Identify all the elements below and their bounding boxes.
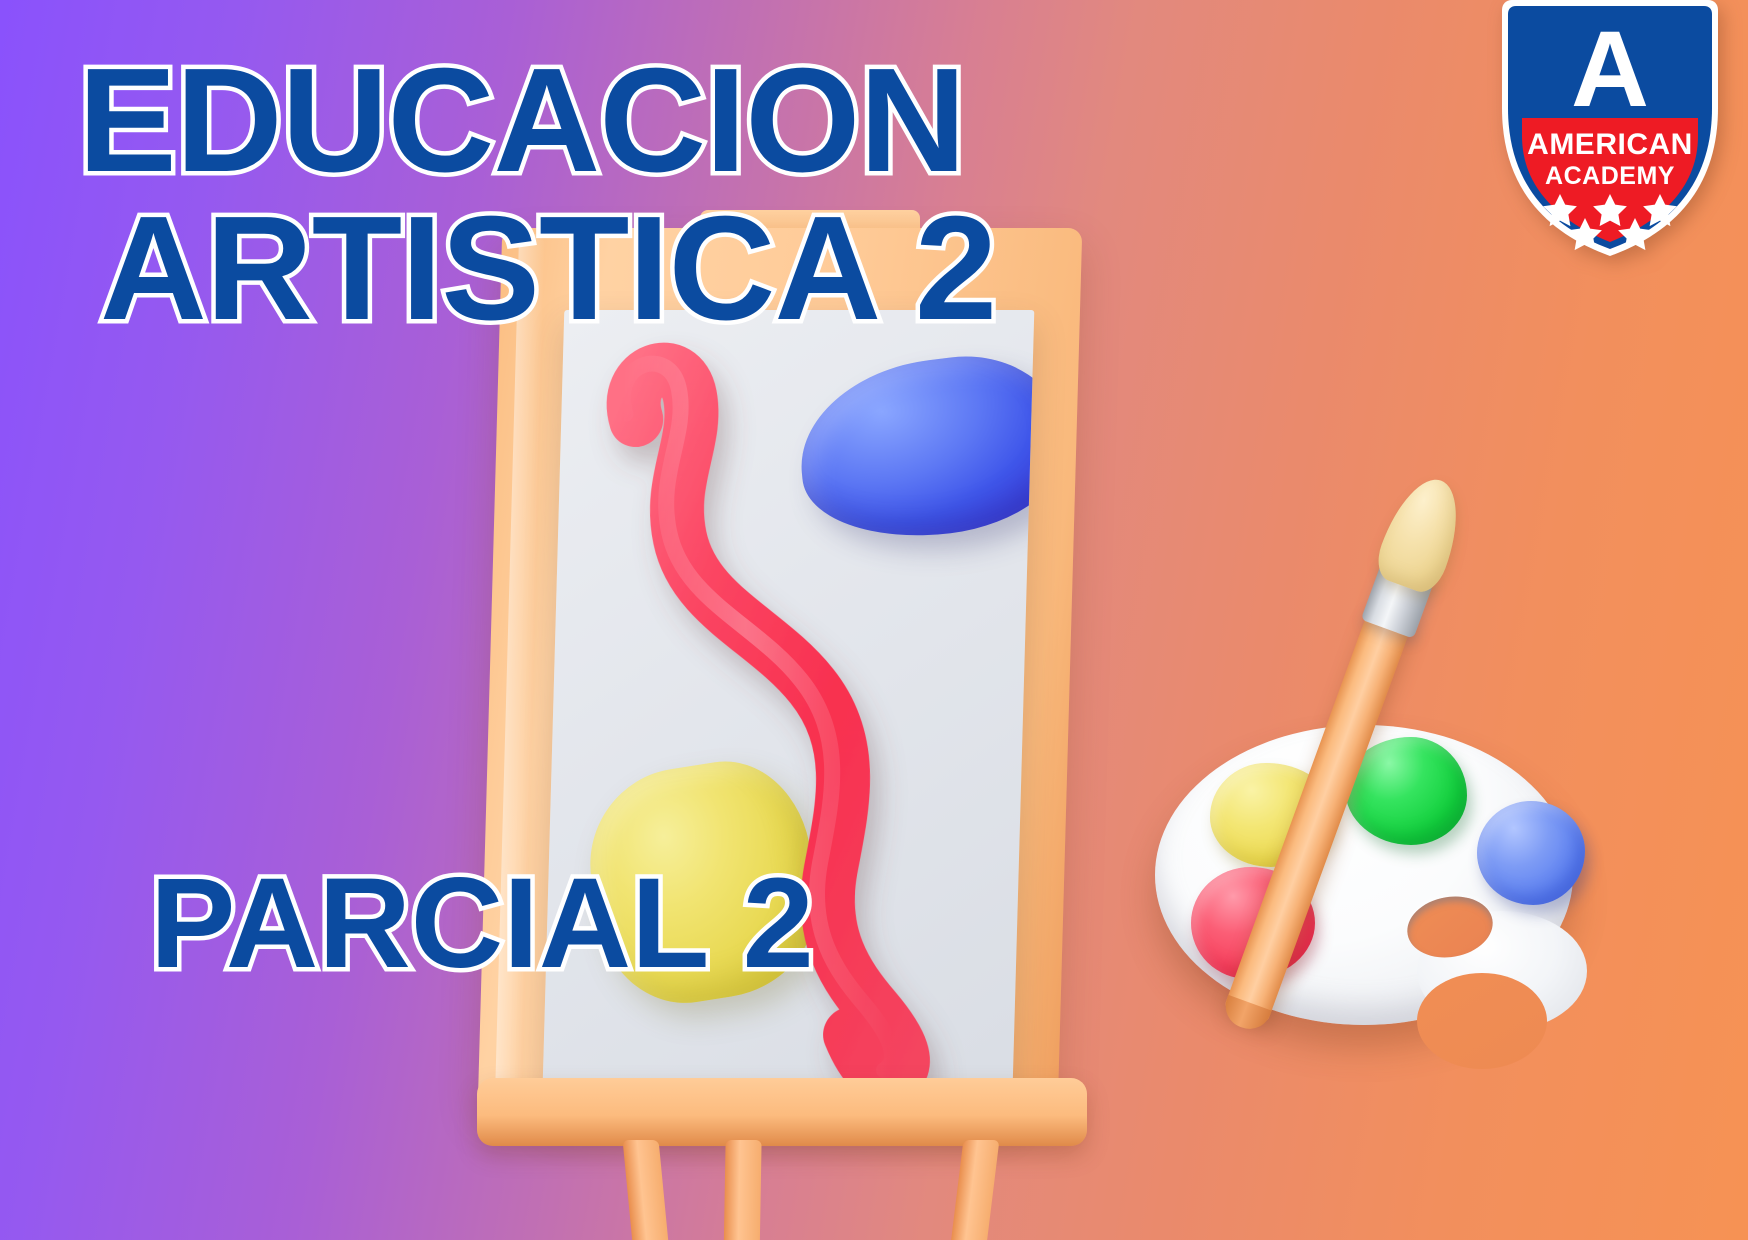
palette-and-brush-illustration xyxy=(1135,510,1748,1050)
easel-leg-left xyxy=(623,1140,688,1240)
logo-monogram: A xyxy=(1571,8,1649,129)
brush-handle xyxy=(1224,604,1414,1024)
easel-illustration xyxy=(455,200,1095,1240)
blue-dab xyxy=(1477,801,1585,905)
palette-notch-cut xyxy=(1417,973,1547,1069)
easel-leg-middle xyxy=(720,1140,761,1240)
logo-name-line1: AMERICAN xyxy=(1527,128,1693,161)
course-subtitle-text: PARCIAL 2 xyxy=(150,860,1050,988)
easel-tray xyxy=(477,1078,1087,1146)
brush-bristle-tip xyxy=(1371,469,1473,598)
course-subtitle: PARCIAL 2 xyxy=(150,860,1050,988)
course-title-line-1: EDUCACION xyxy=(78,50,1258,192)
canvas-sheet xyxy=(542,310,1035,1120)
red-paint-squiggle xyxy=(542,310,1035,1120)
course-cover-poster: A AMERICAN ACADEMY EDUCACION ARTISTICA 2… xyxy=(0,0,1748,1240)
course-title: EDUCACION ARTISTICA 2 xyxy=(78,50,1258,346)
american-academy-logo: A AMERICAN ACADEMY xyxy=(1480,0,1740,261)
easel-leg-right xyxy=(927,1140,1000,1240)
course-title-line-2: ARTISTICA 2 xyxy=(78,198,1258,340)
logo-name-line2: ACADEMY xyxy=(1545,162,1675,190)
